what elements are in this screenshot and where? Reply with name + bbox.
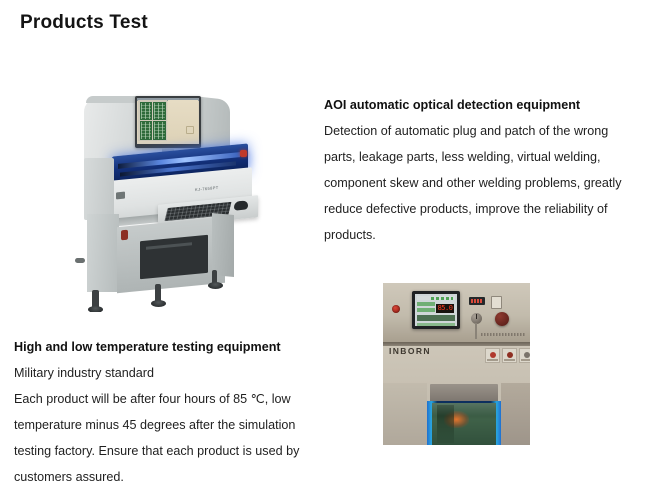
warning-sticker xyxy=(502,348,517,363)
aoi-internal-module xyxy=(140,235,208,280)
pcb-thumbnail xyxy=(140,102,152,120)
aoi-heading: AOI automatic optical detection equipmen… xyxy=(324,92,634,118)
chamber-hmi-row xyxy=(417,296,455,300)
chamber-emergency-stop xyxy=(495,312,509,326)
temperature-line: customers assured. xyxy=(14,464,314,490)
aoi-side-knob xyxy=(75,258,85,263)
aoi-foot xyxy=(88,306,103,312)
aoi-monitor xyxy=(135,96,201,148)
aoi-status-light xyxy=(240,150,247,157)
warning-sticker xyxy=(519,348,530,363)
aoi-socket xyxy=(116,192,125,200)
aoi-screen-preview-pane xyxy=(168,100,198,141)
chamber-hmi-row xyxy=(417,315,455,321)
page-title: Products Test xyxy=(20,12,148,34)
aoi-text-block: AOI automatic optical detection equipmen… xyxy=(324,92,634,248)
chamber-digital-meter xyxy=(469,297,485,305)
warning-sticker xyxy=(485,348,500,363)
aoi-monitor-screen xyxy=(137,98,199,144)
pcb-thumbnail xyxy=(153,102,165,120)
chamber-window-reflection xyxy=(432,403,496,416)
aoi-foot xyxy=(151,300,166,307)
pcb-thumbnail xyxy=(140,121,152,139)
chamber-brand-label: INBORN xyxy=(389,346,431,356)
temperature-description: Military industry standard Each product … xyxy=(14,360,314,490)
temperature-line: temperature minus 45 degrees after the s… xyxy=(14,412,314,438)
aoi-cabinet-left xyxy=(87,214,119,292)
aoi-foot xyxy=(208,282,223,289)
chamber-right-wall xyxy=(501,383,530,445)
pcb-thumbnail xyxy=(153,121,165,139)
chamber-temperature-readout: 85.0 xyxy=(436,304,454,313)
chamber-viewing-window xyxy=(427,401,501,445)
chamber-hmi-row xyxy=(417,308,435,312)
aoi-emergency-stop xyxy=(121,230,128,241)
aoi-machine-illustration: KJ-7658PT xyxy=(62,62,300,312)
chamber-hmi-panel: 85.0 xyxy=(412,291,460,329)
temperature-line: testing factory. Ensure that each produc… xyxy=(14,438,314,464)
chamber-hmi-row xyxy=(417,302,435,306)
temperature-heading: High and low temperature testing equipme… xyxy=(14,334,314,360)
aoi-screen-marker xyxy=(186,126,194,134)
chamber-left-wall xyxy=(383,383,427,445)
chamber-warning-stickers xyxy=(485,348,530,363)
chamber-indicator-lamp xyxy=(392,305,400,313)
temperature-chamber-photo: 85.0 INBORN xyxy=(383,283,530,445)
aoi-cabinet-right xyxy=(212,213,234,277)
temperature-line: Military industry standard xyxy=(14,360,314,386)
temperature-line: Each product will be after four hours of… xyxy=(14,386,314,412)
chamber-probe-stem xyxy=(475,323,477,339)
temperature-text-block: High and low temperature testing equipme… xyxy=(14,334,314,490)
chamber-warning-strip xyxy=(481,333,525,336)
aoi-screen-pcb-thumbnails xyxy=(138,100,167,141)
aoi-description: Detection of automatic plug and patch of… xyxy=(324,118,634,248)
aoi-left-panel xyxy=(84,158,114,220)
chamber-hmi-row xyxy=(417,323,455,326)
chamber-window-hood xyxy=(430,384,498,401)
chamber-hmi-screen: 85.0 xyxy=(415,294,457,326)
aoi-mouse xyxy=(234,200,248,210)
chamber-toggle-switch xyxy=(491,296,502,309)
aoi-machine-photo: KJ-7658PT xyxy=(62,62,300,312)
